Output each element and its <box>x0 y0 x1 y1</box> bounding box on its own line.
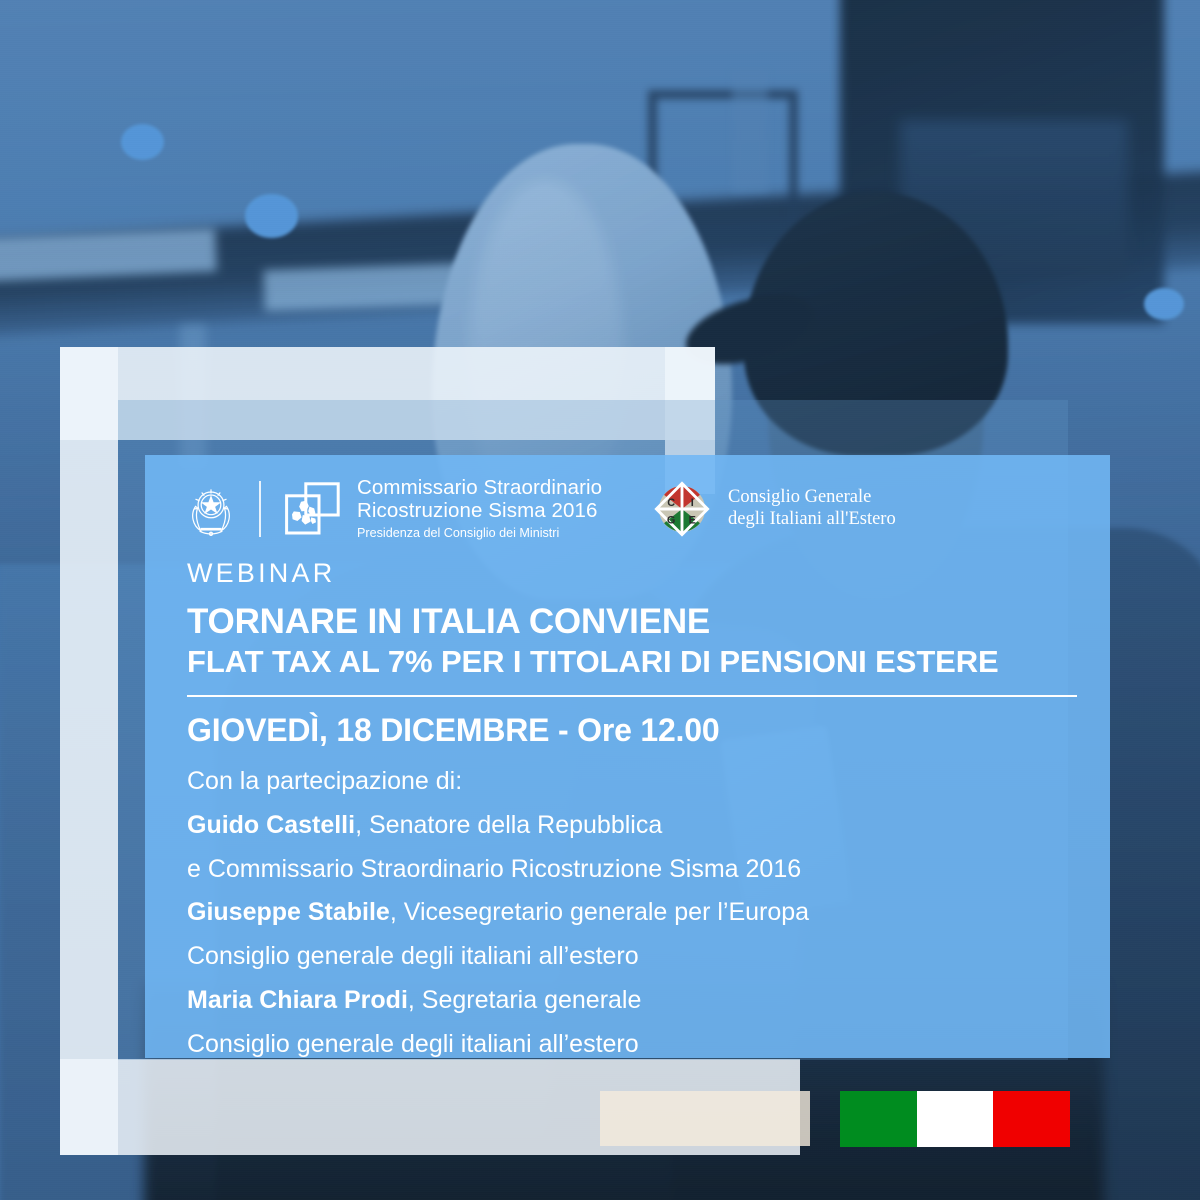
cgie-logo-text: Consiglio Generale degli Italiani all'Es… <box>728 487 896 531</box>
frame-left-bar <box>60 347 118 1155</box>
content-panel: Commissario Straordinario Ricostruzione … <box>145 455 1110 1058</box>
commissario-logo-text: Commissario Straordinario Ricostruzione … <box>357 477 602 540</box>
footer-light-bar <box>600 1091 810 1146</box>
svg-text:I: I <box>691 497 694 509</box>
page-title: TORNARE IN ITALIA CONVIENE <box>187 603 1077 640</box>
headline-block: WEBINAR TORNARE IN ITALIA CONVIENE FLAT … <box>187 560 1077 748</box>
speaker-name: Giuseppe Stabile <box>187 898 390 926</box>
logo-group-cgie: C I G E Consiglio Generale degli Italian… <box>650 477 896 541</box>
flag-band-green <box>840 1091 917 1147</box>
speaker-role: , Vicesegretario generale per l’Europa <box>390 898 809 926</box>
speakers-intro: Con la partecipazione di: <box>187 760 1087 804</box>
speaker-line: Consiglio generale degli italiani all’es… <box>187 1023 1087 1067</box>
speakers-block: Con la partecipazione di: Guido Castelli… <box>187 760 1087 1066</box>
logo-group-left: Commissario Straordinario Ricostruzione … <box>185 477 602 540</box>
italian-flag-icon <box>840 1091 1070 1147</box>
commissario-line-1: Commissario Straordinario <box>357 477 602 500</box>
speaker-role: Consiglio generale degli italiani all’es… <box>187 942 639 970</box>
logo-divider <box>259 481 261 537</box>
italian-republic-emblem-icon <box>185 478 237 540</box>
commissario-line-2: Ricostruzione Sisma 2016 <box>357 500 602 523</box>
speaker-line: Maria Chiara Prodi, Segretaria generale <box>187 979 1087 1023</box>
svg-text:C: C <box>667 497 675 509</box>
speaker-role: , Senatore della Repubblica <box>355 811 662 839</box>
flag-band-white <box>917 1091 994 1147</box>
speaker-line: Guido Castelli, Senatore della Repubblic… <box>187 804 1087 848</box>
speaker-name: Guido Castelli <box>187 811 355 839</box>
commissario-squares-map-icon <box>283 480 343 538</box>
page-subtitle: FLAT TAX AL 7% PER I TITOLARI DI PENSION… <box>187 646 1077 679</box>
speaker-line: e Commissario Straordinario Ricostruzion… <box>187 848 1087 892</box>
flag-band-red <box>993 1091 1070 1147</box>
cgie-line-1: Consiglio Generale <box>728 487 896 509</box>
svg-text:E: E <box>689 515 696 527</box>
kicker-label: WEBINAR <box>187 560 1077 587</box>
event-date: GIOVEDÌ, 18 DICEMBRE - Ore 12.00 <box>187 714 1077 748</box>
svg-text:G: G <box>667 515 675 527</box>
speaker-line: Consiglio generale degli italiani all’es… <box>187 935 1087 979</box>
commissario-line-3: Presidenza del Consiglio dei Ministri <box>357 526 602 540</box>
speaker-role: , Segretaria generale <box>408 986 641 1014</box>
cgie-line-2: degli Italiani all'Estero <box>728 509 896 531</box>
speaker-role: e Commissario Straordinario Ricostruzion… <box>187 855 801 883</box>
cgie-emblem-icon: C I G E <box>650 477 714 541</box>
speaker-line: Giuseppe Stabile, Vicesegretario general… <box>187 891 1087 935</box>
divider-rule <box>187 695 1077 697</box>
speaker-name: Maria Chiara Prodi <box>187 986 408 1014</box>
poster-canvas: Commissario Straordinario Ricostruzione … <box>0 0 1200 1200</box>
speaker-role: Consiglio generale degli italiani all’es… <box>187 1030 639 1058</box>
